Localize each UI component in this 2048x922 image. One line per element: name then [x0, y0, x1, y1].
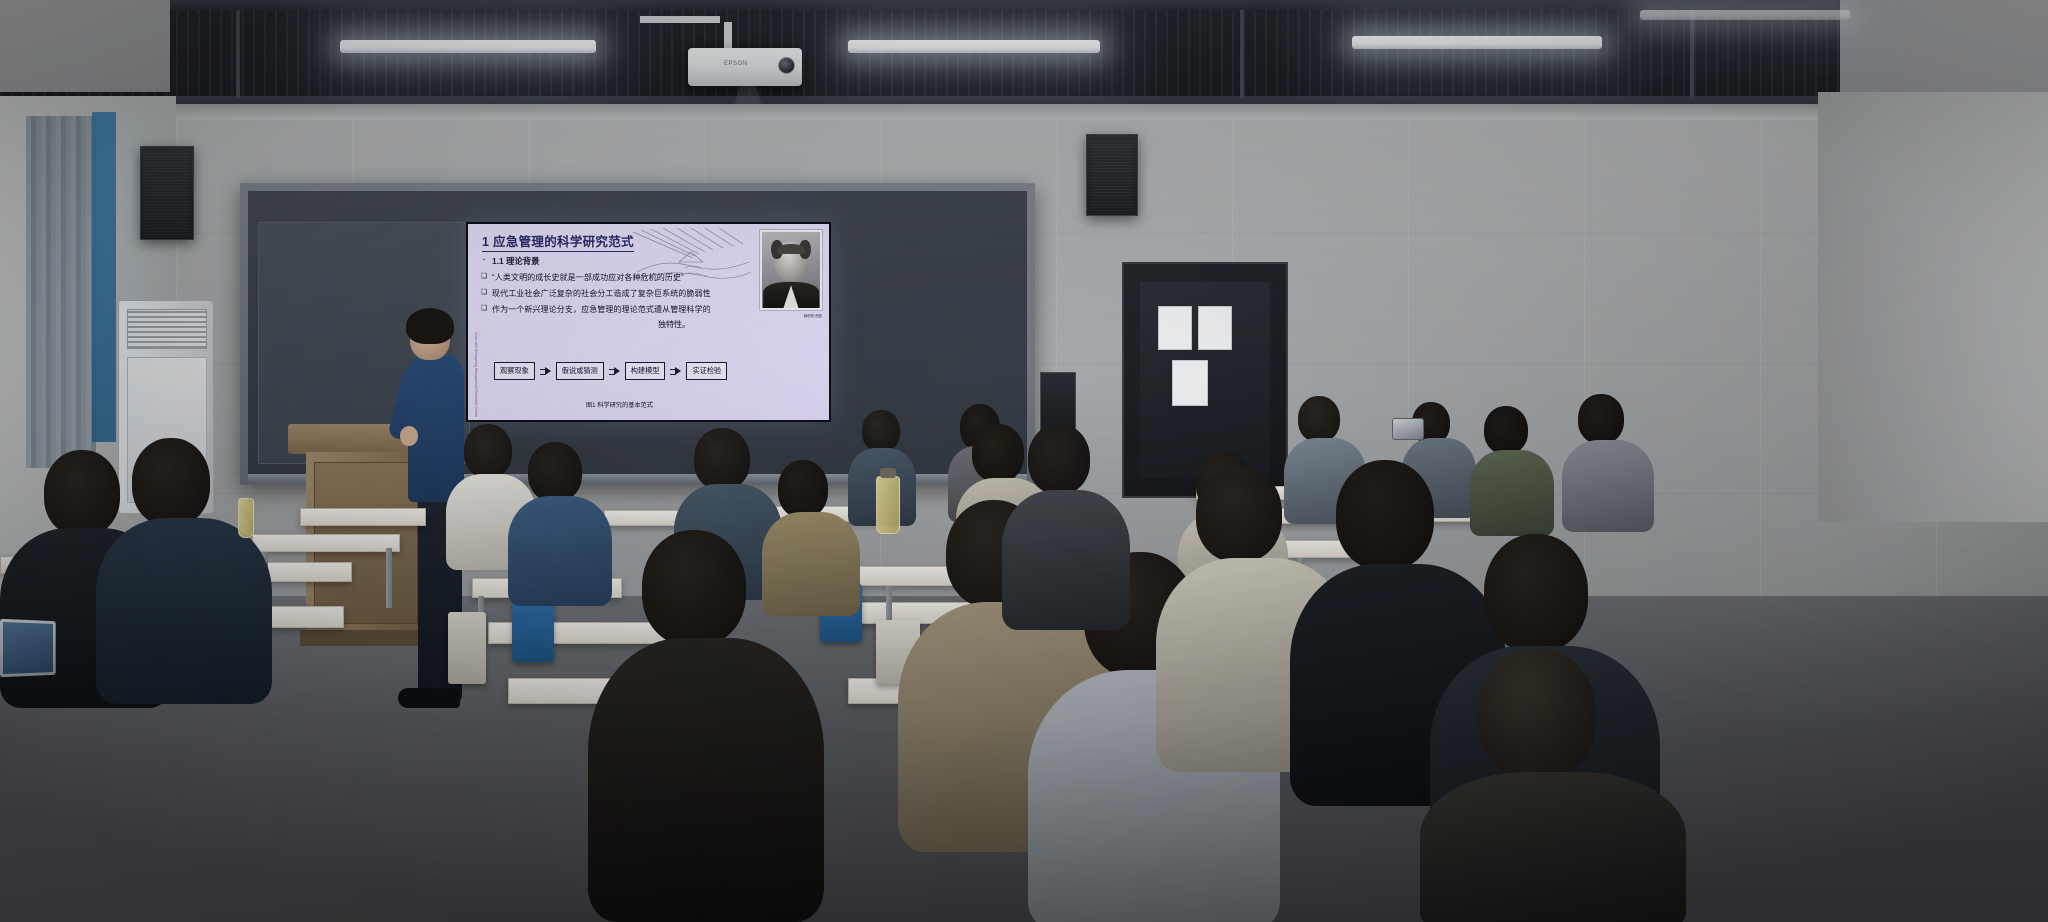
torso	[1002, 490, 1130, 630]
flowchart-box-3: 构建模型	[625, 362, 666, 380]
slide-bullet-3: 作为一个新兴理论分支，应急管理的理论范式遵从管理科学的	[492, 304, 711, 315]
head	[528, 442, 582, 502]
laptop[interactable]	[0, 619, 56, 678]
ceiling-panel-left	[0, 0, 170, 92]
torso	[762, 512, 860, 616]
head	[778, 460, 828, 518]
ceiling-panel-right	[1840, 0, 2048, 96]
head	[464, 424, 512, 478]
torso	[588, 638, 824, 922]
desk-leg-2	[386, 548, 392, 608]
wall-notice-2	[1198, 306, 1232, 350]
slide-flowchart: 观察现象 假说或猜测 构建模型 实证检验	[494, 362, 727, 380]
torso	[1470, 450, 1554, 536]
head	[1196, 466, 1282, 562]
slide-portrait-caption: 赫伯特·西蒙	[804, 313, 822, 318]
presenter-hand	[400, 426, 418, 446]
ceiling-band-top	[0, 0, 2048, 10]
presentation-slide: 1 应急管理的科学研究范式 1.1 理论背景 “人类文明的成长史就是一部成功应对…	[468, 224, 829, 420]
torso	[508, 496, 612, 606]
sketch-landscape-icon	[633, 228, 751, 290]
head	[972, 424, 1024, 482]
smartphone[interactable]	[1392, 418, 1424, 440]
slide-sketch-art	[633, 228, 751, 290]
slide-bullet-3-tail: 独特性。	[658, 319, 690, 330]
head	[642, 530, 746, 646]
chair-2[interactable]	[512, 600, 554, 662]
projector-brand-label: EPSON	[724, 61, 748, 67]
flowchart-box-1: 观察现象	[494, 362, 535, 380]
projection-screen: 1 应急管理的科学研究范式 1.1 理论背景 “人类文明的成长史就是一部成功应对…	[466, 222, 831, 422]
flowchart-arrow-3	[670, 367, 681, 375]
slide-subtitle: 1.1 理论背景	[492, 255, 539, 267]
head	[44, 450, 120, 536]
classroom-photo: EPSON 1 应急管理的科学研究范式 1.1 理论背景 “人类文明的成长史就是…	[0, 0, 2048, 922]
head	[862, 410, 900, 452]
ceiling-projector: EPSON	[688, 48, 802, 86]
ceiling-lamp-4	[1640, 10, 1850, 20]
flowchart-arrow-2	[609, 367, 620, 375]
water-bottle-1[interactable]	[876, 476, 900, 534]
slide-portrait-frame	[759, 229, 823, 311]
slide-title: 1 应急管理的科学研究范式	[482, 231, 634, 252]
desk-row-3-b	[252, 534, 400, 552]
head	[1478, 648, 1596, 780]
torso	[1562, 440, 1654, 532]
head	[1298, 396, 1340, 442]
flowchart-caption: 图1 科学研究的基本范式	[586, 400, 653, 409]
head	[1484, 406, 1528, 454]
ceiling-beam-mid	[1690, 10, 1694, 98]
ac-vent-grille	[127, 309, 207, 349]
slide-sidebar-text: Crisis and Emergency Management Research…	[474, 332, 478, 417]
flowchart-box-2: 假说或猜测	[556, 362, 604, 380]
laptop-screen	[3, 622, 53, 674]
wall-speaker-right	[1086, 134, 1138, 216]
projector-mount-plate	[640, 16, 720, 23]
head	[1028, 424, 1090, 494]
ceiling-beam-right	[1240, 10, 1244, 98]
head	[1484, 534, 1588, 652]
portrait-photo	[762, 232, 820, 308]
ceiling-lamp-3	[1352, 36, 1602, 49]
desk-row-3-a	[300, 508, 426, 526]
projector-lens-icon	[778, 57, 795, 74]
head	[1336, 460, 1434, 570]
wall-upper-trim	[170, 104, 1830, 120]
flowchart-arrow-1	[540, 367, 551, 375]
podium-base	[300, 630, 436, 646]
flowchart-box-4: 实证检验	[686, 362, 727, 380]
projector-mount-arm	[724, 22, 732, 50]
presenter-shoes	[398, 688, 460, 708]
water-bottle-2[interactable]	[238, 498, 254, 538]
head	[1578, 394, 1624, 444]
head	[694, 428, 750, 490]
chair-5[interactable]	[448, 612, 486, 684]
presenter-hair	[406, 308, 454, 344]
window-curtain	[26, 116, 96, 468]
wall-notice-3	[1172, 360, 1208, 406]
torso	[1420, 772, 1686, 922]
ceiling-lamp-2	[848, 40, 1100, 53]
water-bottle-cap-1	[880, 468, 896, 478]
torso	[96, 518, 272, 704]
right-wall	[1818, 92, 2048, 522]
head	[132, 438, 210, 526]
wall-notice-1	[1158, 306, 1192, 350]
blue-curtain-strip	[92, 112, 116, 442]
ceiling-lamp-1	[340, 40, 596, 53]
portrait-brow	[778, 244, 805, 254]
wall-speaker-left	[140, 146, 194, 240]
ceiling-beam-left	[236, 10, 240, 98]
